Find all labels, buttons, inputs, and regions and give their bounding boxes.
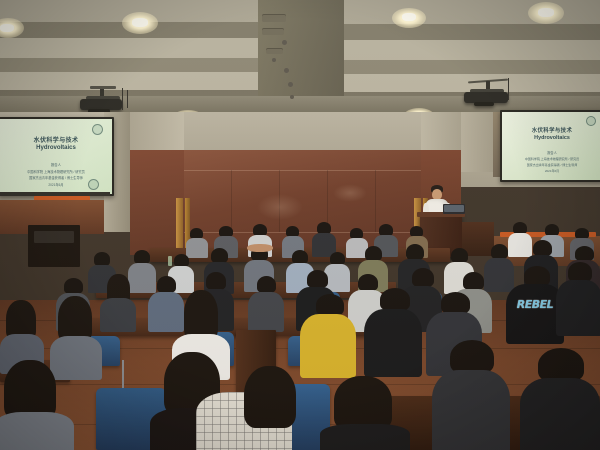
university-seal-icon — [92, 124, 103, 135]
slide-title-cn: 水伏科学与技术 — [502, 126, 600, 134]
slide-date: 2021年6月 — [502, 169, 600, 173]
ceiling-panel — [344, 60, 600, 74]
yellow-shirt — [300, 314, 356, 378]
university-seal-icon — [586, 116, 596, 126]
ceiling-projector-right — [462, 78, 522, 110]
ceiling-vent — [266, 48, 283, 54]
lecture-hall-photo: 水伏科学与技术 Hydrovoltaics 报告人 中国科学院 上海技术物理研究… — [0, 0, 600, 450]
slide-presenter: 报告人 — [502, 150, 600, 155]
ceiling-panel — [0, 58, 258, 72]
slide-affiliation-2: 国家杰出青年基金获得者 / 博士生导师 — [502, 163, 600, 167]
ceiling — [0, 0, 600, 118]
university-seal-icon — [88, 179, 99, 190]
audience-member-foreground — [320, 376, 410, 450]
recessed-downlight — [122, 12, 158, 34]
ceiling-panel — [344, 24, 600, 40]
slide-title-en: Hydrovoltaics — [0, 145, 112, 151]
sprinkler-head — [290, 95, 294, 99]
audience-member-foreground — [520, 348, 600, 450]
wall-panel — [461, 112, 493, 172]
ceiling-panel — [0, 38, 258, 58]
audience-member — [300, 294, 356, 374]
ceiling-vent — [262, 14, 286, 22]
slide-affiliation-1: 中国科学院 上海技术物理研究所 / 研究员 — [502, 157, 600, 161]
raised-arm — [247, 244, 273, 252]
sprinkler-head — [282, 40, 287, 45]
recessed-downlight — [392, 8, 426, 28]
cabinet-panel — [34, 231, 74, 243]
slide-title-cn: 水伏科学与技术 — [0, 135, 112, 144]
audience-member — [248, 276, 284, 330]
ceiling-panel — [344, 40, 600, 60]
recessed-downlight — [528, 2, 564, 24]
audience-member — [100, 274, 136, 330]
slide-affiliation-1: 中国科学院 上海技术物理研究所 / 研究员 — [0, 169, 112, 174]
audience-member — [556, 262, 600, 334]
slide-presenter: 报告人 — [0, 162, 112, 167]
slide-title-en: Hydrovoltaics — [502, 135, 600, 141]
audience-member — [364, 288, 422, 374]
audience-member-foreground — [0, 360, 74, 450]
audience-member-foreground-checkered — [196, 366, 292, 450]
presenter-laptop — [443, 204, 465, 214]
audience-member — [312, 222, 336, 256]
sprinkler-head — [272, 58, 276, 62]
right-projection-screen: 水伏科学与技术 Hydrovoltaics 报告人 中国科学院 上海技术物理研究… — [500, 110, 600, 182]
audience-member-foreground — [432, 340, 510, 450]
left-projection-screen: 水伏科学与技术 Hydrovoltaics 报告人 中国科学院 上海技术物理研究… — [0, 117, 114, 196]
sprinkler-head — [284, 68, 289, 73]
ceiling-vent — [262, 28, 284, 35]
sprinkler-head — [288, 82, 293, 87]
